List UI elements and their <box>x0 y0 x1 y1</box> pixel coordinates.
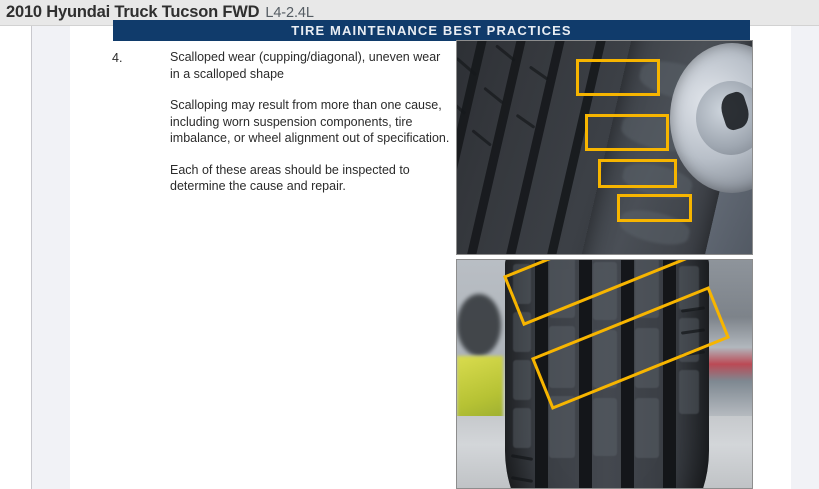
document-viewer[interactable]: TIRE MAINTENANCE BEST PRACTICES 4. Scall… <box>0 26 819 489</box>
left-gutter-panel <box>32 26 70 489</box>
paragraph-1: Scalloped wear (cupping/diagonal), uneve… <box>170 49 450 82</box>
tread-sipe <box>511 476 533 483</box>
tread-groove <box>663 260 676 488</box>
section-banner-title: TIRE MAINTENANCE BEST PRACTICES <box>291 23 571 38</box>
tread-sipe <box>511 454 533 461</box>
annotation-box-1 <box>576 59 660 96</box>
figure-tire-sidewall-scalloping[interactable] <box>456 40 753 255</box>
photo-scene-top <box>457 41 752 254</box>
body-text-column: Scalloped wear (cupping/diagonal), uneve… <box>170 49 450 195</box>
document-page: TIRE MAINTENANCE BEST PRACTICES 4. Scall… <box>70 26 791 489</box>
tread-block <box>513 408 531 448</box>
annotation-box-2 <box>585 114 669 151</box>
tread-sipe <box>471 129 492 146</box>
section-banner: TIRE MAINTENANCE BEST PRACTICES <box>113 20 750 41</box>
tread-block <box>679 370 699 414</box>
figure-tire-tread-diagonal-wear[interactable] <box>456 259 753 489</box>
background-shadow <box>457 294 501 356</box>
paragraph-2: Scalloping may result from more than one… <box>170 97 450 147</box>
tread-sipe <box>516 114 536 129</box>
photo-scene-bottom <box>457 260 752 488</box>
paragraph-3: Each of these areas should be inspected … <box>170 162 450 195</box>
app-root: 2010 Hyundai Truck Tucson FWD L4-2.4L TI… <box>0 0 819 489</box>
annotation-box-4 <box>617 194 692 222</box>
tread-block <box>513 360 531 400</box>
annotation-box-3 <box>598 159 677 188</box>
tread-block <box>593 398 617 456</box>
tread-block <box>635 398 659 458</box>
vehicle-engine: L4-2.4L <box>265 5 313 21</box>
tread-sipe <box>483 87 504 104</box>
right-gutter-panel <box>791 26 819 489</box>
tread-sipe <box>529 66 549 81</box>
list-item-number: 4. <box>112 51 122 65</box>
